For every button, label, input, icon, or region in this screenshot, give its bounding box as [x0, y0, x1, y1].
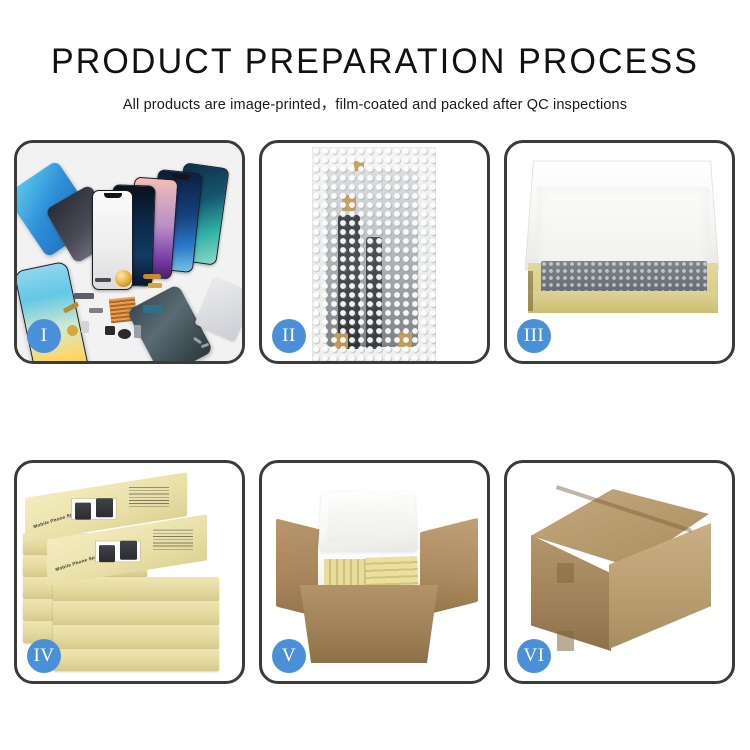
- small-part-icon: [89, 308, 103, 313]
- page-subtitle: All products are image-printed，film-coat…: [0, 82, 750, 114]
- process-step-panel-5[interactable]: V: [259, 460, 490, 684]
- foam-lid-inner-icon: [327, 499, 410, 543]
- box-phone-artwork-icon: [99, 545, 115, 562]
- box-edge-icon: [528, 271, 533, 311]
- stacked-box-icon: [53, 601, 219, 625]
- part-strip-icon: [366, 237, 382, 349]
- box-phone-artwork-icon: [75, 503, 91, 520]
- process-step-panel-6[interactable]: VI: [504, 460, 735, 684]
- gold-connector-icon: [115, 270, 132, 287]
- step-number-badge-4: IV: [27, 639, 61, 673]
- stacked-box-icon: [53, 649, 219, 671]
- speaker-icon: [118, 329, 131, 339]
- process-step-panel-4[interactable]: Mobile Phone Spare Parts Mobile Phone Sp…: [14, 460, 245, 684]
- box-front-panel-icon: [528, 291, 718, 313]
- step-number-badge-6: VI: [517, 639, 551, 673]
- carton-body-icon: [300, 585, 438, 663]
- small-part-icon: [95, 278, 111, 282]
- stacked-box-icon: [53, 625, 219, 649]
- bubble-wrap-bag-icon: [312, 147, 436, 361]
- sim-tray-icon: [81, 321, 89, 333]
- small-part-icon: [105, 326, 115, 335]
- box-phone-artwork-icon: [120, 541, 137, 560]
- camera-module-icon: [143, 305, 163, 313]
- part-strip-icon: [338, 215, 360, 349]
- step-number-badge-1: I: [27, 319, 61, 353]
- tape-icon: [334, 333, 348, 349]
- tape-icon: [398, 331, 412, 347]
- notch-icon: [104, 193, 122, 198]
- process-step-panel-1[interactable]: I: [14, 140, 245, 364]
- step-number-badge-2: II: [272, 319, 306, 353]
- tape-icon: [342, 195, 356, 211]
- process-step-panel-3[interactable]: III: [504, 140, 735, 364]
- page-header: PRODUCT PREPARATION PROCESS All products…: [0, 0, 750, 114]
- flex-cable-icon: [148, 283, 162, 288]
- step-number-badge-5: V: [272, 639, 306, 673]
- box-phone-artwork-icon: [96, 498, 113, 517]
- carton-tape-icon: [557, 563, 574, 583]
- gold-part-icon: [67, 325, 78, 336]
- tape-icon: [354, 161, 364, 171]
- page-title: PRODUCT PREPARATION PROCESS: [11, 0, 739, 82]
- step-number-badge-3: III: [517, 319, 551, 353]
- box-spec-lines-icon: [153, 530, 193, 552]
- connector-icon: [74, 293, 94, 299]
- flex-cable-icon: [143, 274, 161, 279]
- foam-box-lid-icon: [318, 491, 418, 551]
- grey-bubble-padding-icon: [541, 261, 707, 293]
- process-step-panel-2[interactable]: II: [259, 140, 490, 364]
- process-step-grid: I II III: [14, 140, 736, 684]
- box-spec-lines-icon: [129, 487, 169, 509]
- carton-tape-icon: [557, 631, 574, 651]
- white-foam-icon: [537, 187, 709, 271]
- small-part-icon: [134, 325, 141, 338]
- phone-screen-fan: [89, 163, 242, 293]
